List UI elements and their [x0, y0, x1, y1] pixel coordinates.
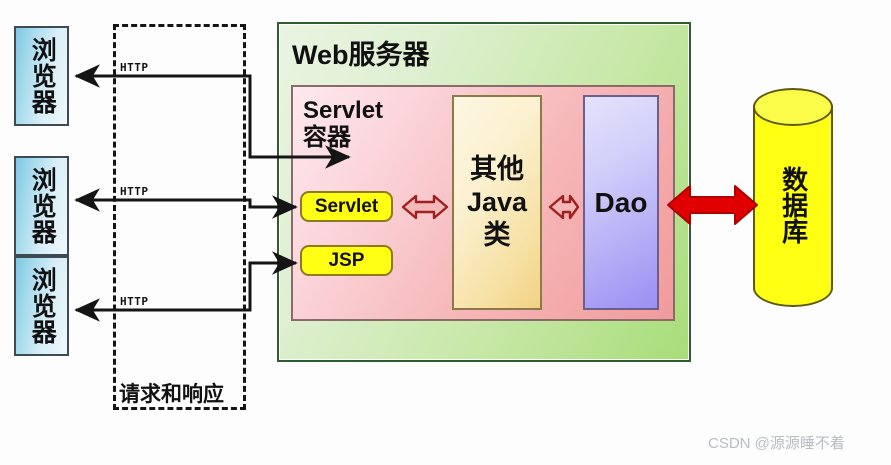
arrow-java-to-dao — [550, 196, 578, 218]
flow-browser-2 — [76, 200, 296, 207]
database-label: 数据库 — [753, 150, 833, 260]
csdn-watermark: CSDN @源源睡不着 — [708, 432, 845, 453]
flow-browser-3 — [76, 263, 296, 310]
http-label-1: HTTP — [118, 61, 151, 74]
diagram-canvas: 请求和响应 浏览器 浏览器 浏览器 Web服务器 Servlet 容器 Serv… — [0, 0, 891, 465]
http-label-2: HTTP — [118, 185, 151, 198]
http-label-3: HTTP — [118, 295, 151, 308]
arrow-dao-to-database — [668, 186, 757, 224]
arrow-servlet-to-java — [403, 196, 447, 218]
flow-browser-1 — [76, 76, 349, 157]
